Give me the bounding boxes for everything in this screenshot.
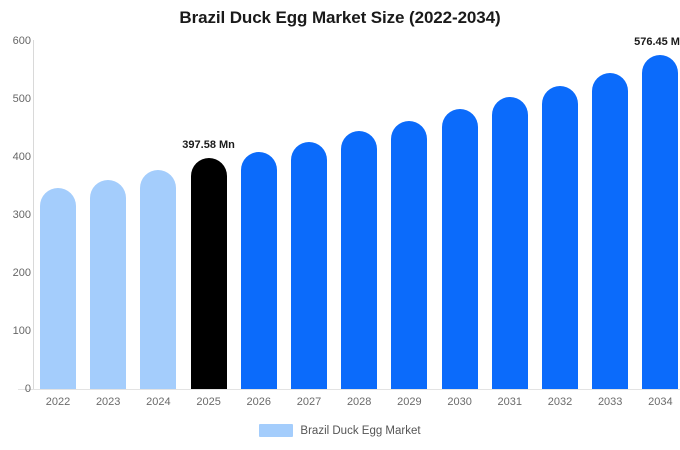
bar-chart: Brazil Duck Egg Market Size (2022-2034) …	[0, 0, 680, 450]
bar-2030[interactable]	[442, 0, 478, 389]
x-axis-tick-label-2031: 2031	[492, 396, 528, 408]
x-axis-tick-label-2025: 2025	[191, 396, 227, 408]
bar-rect-2023[interactable]	[90, 180, 126, 389]
bar-rect-2024[interactable]	[140, 170, 176, 389]
bar-2034[interactable]	[642, 0, 678, 389]
bar-2022[interactable]	[40, 0, 76, 389]
x-axis-tick-label-2029: 2029	[391, 396, 427, 408]
bar-rect-2029[interactable]	[391, 121, 427, 389]
bar-2025[interactable]	[191, 0, 227, 389]
y-axis-line	[33, 40, 34, 389]
plot-area: 0100200300400500600 397.58 Mn576.45 Mn 2…	[0, 0, 680, 400]
x-axis-tick-label-2027: 2027	[291, 396, 327, 408]
x-axis-tick-label-2026: 2026	[241, 396, 277, 408]
bar-2024[interactable]	[140, 0, 176, 389]
bar-rect-2032[interactable]	[542, 86, 578, 389]
chart-legend: Brazil Duck Egg Market	[0, 424, 680, 437]
legend-swatch-brazil-duck-egg-market	[259, 424, 293, 437]
x-axis-tick-label-2032: 2032	[542, 396, 578, 408]
x-axis-tick-label-2030: 2030	[442, 396, 478, 408]
y-axis-tick-label: 100	[3, 326, 31, 337]
y-axis-tick-label: 300	[3, 210, 31, 221]
bar-rect-2033[interactable]	[592, 73, 628, 389]
bar-2023[interactable]	[90, 0, 126, 389]
y-axis-tick-label: 400	[3, 152, 31, 163]
legend-label-brazil-duck-egg-market: Brazil Duck Egg Market	[300, 425, 420, 437]
bar-rect-2030[interactable]	[442, 109, 478, 389]
bar-2029[interactable]	[391, 0, 427, 389]
x-axis-tick-label-2033: 2033	[592, 396, 628, 408]
x-axis-tick-label-2022: 2022	[40, 396, 76, 408]
bar-2032[interactable]	[542, 0, 578, 389]
bar-2026[interactable]	[241, 0, 277, 389]
y-axis-tick-label: 600	[3, 36, 31, 47]
bar-rect-2022[interactable]	[40, 188, 76, 389]
bar-value-label-2034: 576.45 Mn	[634, 37, 680, 48]
bar-2027[interactable]	[291, 0, 327, 389]
bar-rect-2027[interactable]	[291, 142, 327, 389]
y-axis-tick-label: 0	[3, 384, 31, 395]
bar-rect-2028[interactable]	[341, 131, 377, 389]
x-axis-tick-label-2024: 2024	[140, 396, 176, 408]
bar-value-label-2025: 397.58 Mn	[182, 140, 235, 151]
x-axis-tick-label-2028: 2028	[341, 396, 377, 408]
x-axis-line	[18, 389, 680, 390]
x-axis-tick-label-2023: 2023	[90, 396, 126, 408]
bar-2031[interactable]	[492, 0, 528, 389]
y-axis-tick-label: 500	[3, 94, 31, 105]
bar-2033[interactable]	[592, 0, 628, 389]
bar-rect-2031[interactable]	[492, 97, 528, 389]
x-axis-tick-label-2034: 2034	[642, 396, 678, 408]
bar-rect-2034[interactable]	[642, 55, 678, 389]
y-axis-tick-label: 200	[3, 268, 31, 279]
bar-rect-2026[interactable]	[241, 152, 277, 389]
bar-2028[interactable]	[341, 0, 377, 389]
bar-rect-2025[interactable]	[191, 158, 227, 389]
